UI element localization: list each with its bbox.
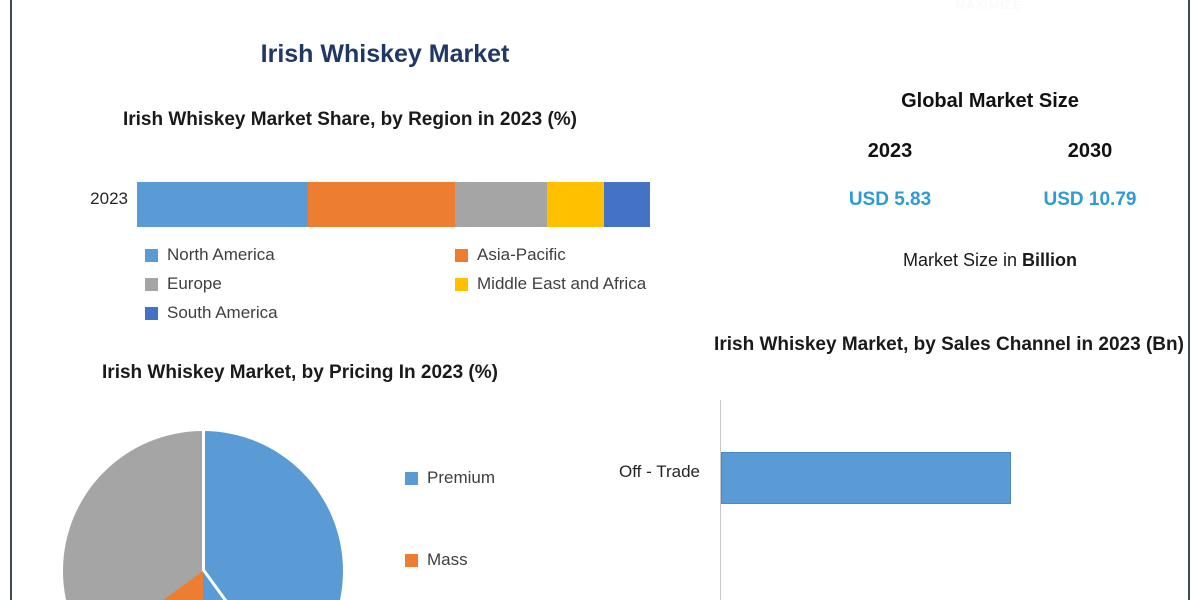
market-size-column-2030: 2030 USD 10.79: [990, 140, 1190, 211]
region-segment-asia-pacific: [308, 182, 455, 227]
region-segment-middle-east-africa: [547, 182, 604, 227]
legend-item-middle-east-and-africa: Middle East and Africa: [455, 274, 670, 294]
region-stacked-bar: [137, 182, 650, 227]
legend-swatch-icon: [455, 249, 468, 262]
channel-plot-area: Off - Trade: [710, 400, 1180, 600]
legend-swatch-icon: [405, 472, 418, 485]
sales-channel-chart: Irish Whiskey Market, by Sales Channel i…: [700, 330, 1190, 600]
pricing-chart-legend: Premium Mass: [405, 468, 575, 600]
region-segment-south-america: [604, 182, 650, 227]
watermark: MAXIMIZE: [955, 0, 1022, 12]
region-share-chart: Irish Whiskey Market Share, by Region in…: [30, 105, 670, 340]
legend-label: Middle East and Africa: [477, 274, 646, 294]
legend-swatch-icon: [145, 278, 158, 291]
legend-label: Europe: [167, 274, 222, 294]
legend-item-europe: Europe: [145, 274, 455, 294]
market-size-column-2023: 2023 USD 5.83: [790, 140, 990, 211]
legend-label: South America: [167, 303, 278, 323]
global-market-size-columns: 2023 USD 5.83 2030 USD 10.79: [790, 140, 1190, 211]
region-segment-europe: [455, 182, 547, 227]
market-size-year: 2030: [990, 140, 1190, 163]
legend-swatch-icon: [145, 307, 158, 320]
legend-label: Premium: [427, 468, 495, 488]
channel-chart-title: Irish Whiskey Market, by Sales Channel i…: [710, 330, 1188, 359]
market-size-value: USD 5.83: [790, 189, 990, 211]
market-size-unit-value: Billion: [1022, 250, 1077, 270]
channel-bar-off-trade: [721, 452, 1011, 504]
region-segment-north-america: [137, 182, 308, 227]
global-market-size-title: Global Market Size: [790, 90, 1190, 113]
legend-label: North America: [167, 245, 275, 265]
legend-swatch-icon: [145, 249, 158, 262]
legend-label: Mass: [427, 550, 468, 570]
region-axis-category-label: 2023: [58, 189, 128, 209]
region-chart-title: Irish Whiskey Market Share, by Region in…: [85, 105, 615, 134]
legend-label: Asia-Pacific: [477, 245, 566, 265]
market-size-unit-prefix: Market Size in: [903, 250, 1022, 270]
region-chart-legend: North America Asia-Pacific Europe Middle…: [145, 245, 670, 323]
pie-slice-separator: [202, 431, 205, 571]
pricing-chart-title: Irish Whiskey Market, by Pricing In 2023…: [60, 358, 540, 387]
pricing-pie-chart: Irish Whiskey Market, by Pricing In 2023…: [20, 358, 580, 600]
legend-item-north-america: North America: [145, 245, 455, 265]
infographic-page: MAXIMIZE Irish Whiskey Market Irish Whis…: [0, 0, 1200, 600]
channel-category-label: Off - Trade: [580, 462, 700, 482]
market-size-unit-note: Market Size in Billion: [790, 250, 1190, 271]
market-size-value: USD 10.79: [990, 189, 1190, 211]
frame-border-left: [10, 0, 12, 600]
page-title: Irish Whiskey Market: [170, 40, 600, 69]
global-market-size-panel: Global Market Size 2023 USD 5.83 2030 US…: [790, 90, 1190, 290]
legend-item-asia-pacific: Asia-Pacific: [455, 245, 670, 265]
legend-swatch-icon: [455, 278, 468, 291]
pie-chart-graphic: [63, 431, 343, 600]
legend-swatch-icon: [405, 554, 418, 567]
legend-item-mass: Mass: [405, 550, 575, 570]
market-size-year: 2023: [790, 140, 990, 163]
legend-item-premium: Premium: [405, 468, 575, 488]
legend-item-south-america: South America: [145, 303, 455, 323]
